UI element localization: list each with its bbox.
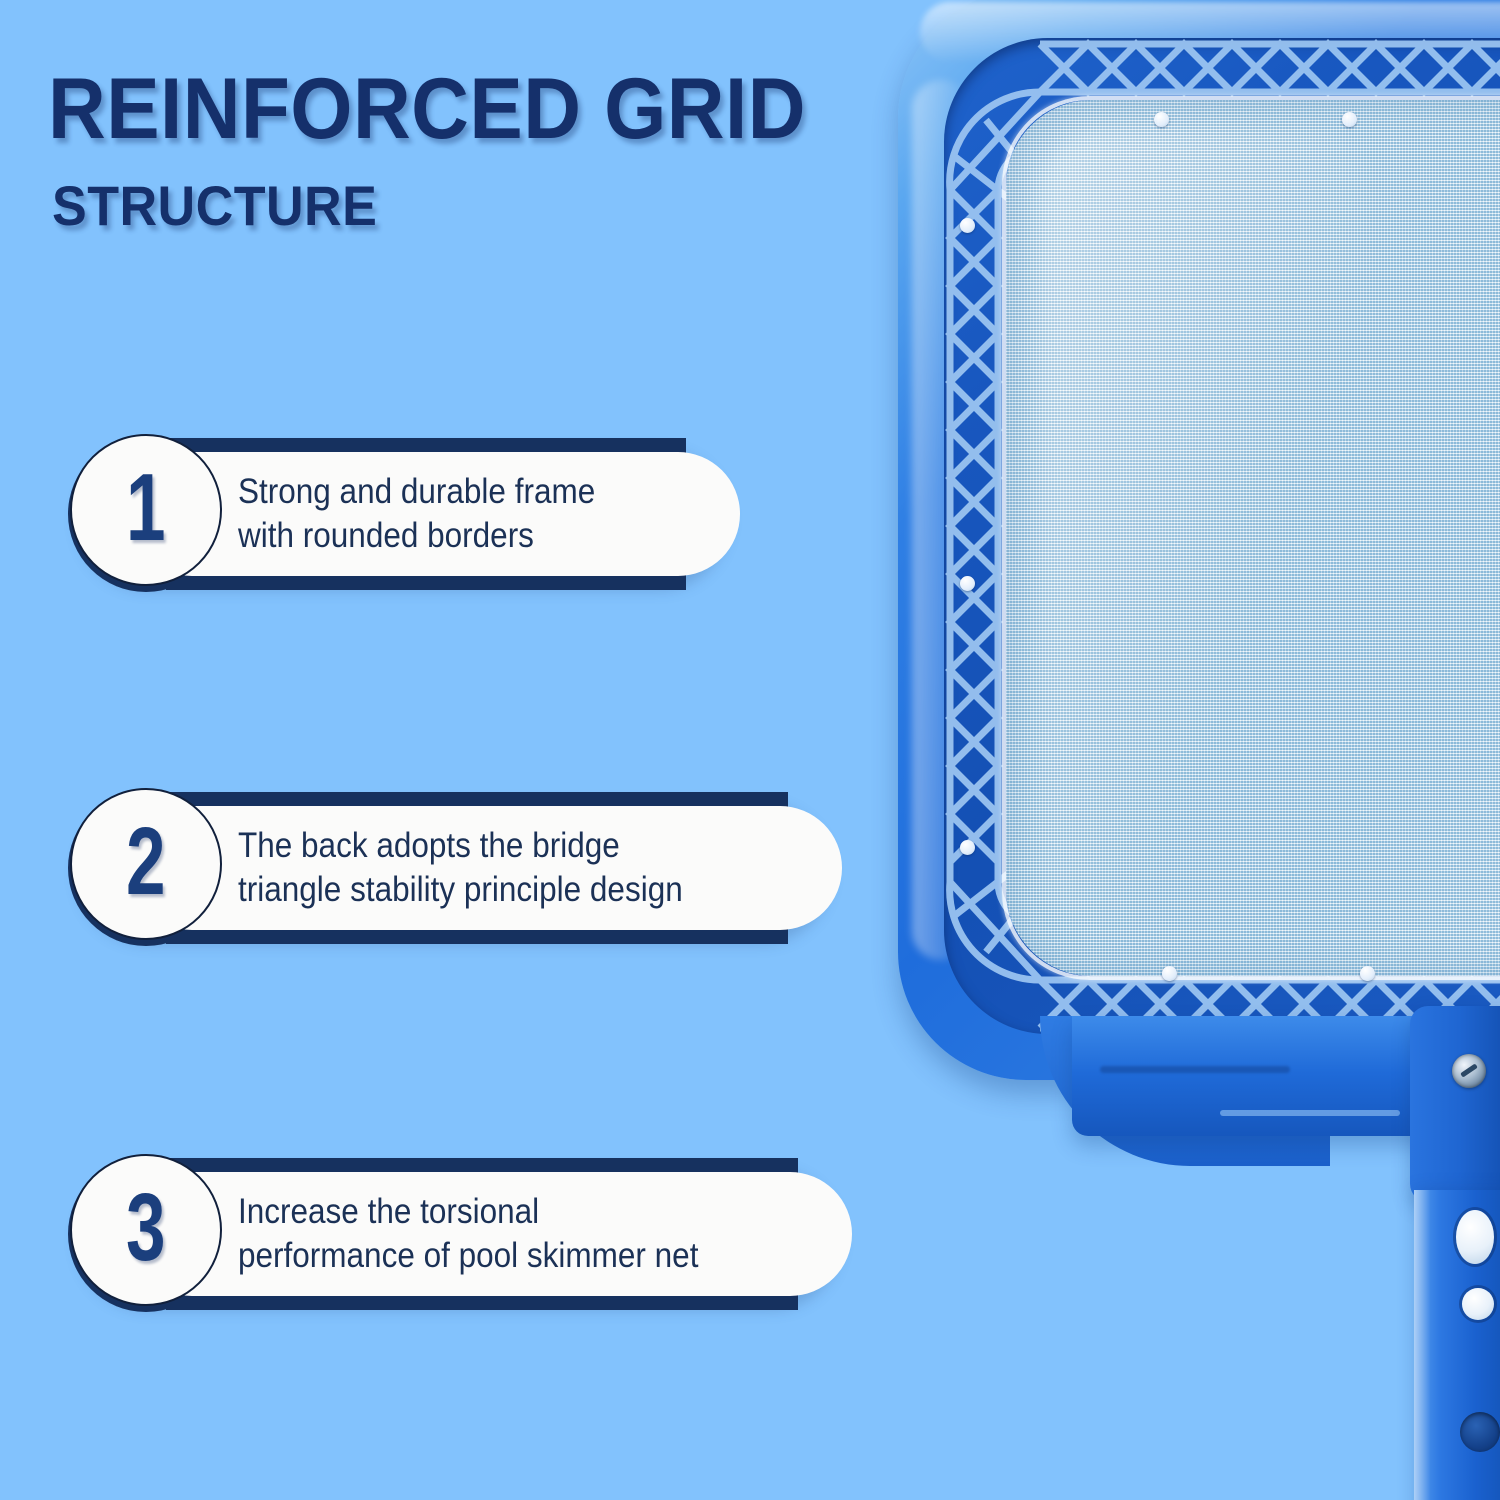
- pole-highlight-edge: [1414, 1190, 1430, 1500]
- truss-pin: [1154, 112, 1169, 127]
- product-image-pool-skimmer-net: [890, 0, 1500, 1500]
- truss-pin: [1342, 112, 1357, 127]
- callout-text: Strong and durable frame with rounded bo…: [238, 470, 635, 558]
- pole-adjust-hole: [1456, 1210, 1494, 1264]
- truss-pin: [960, 576, 975, 591]
- truss-pin: [960, 840, 975, 855]
- screw-icon: [1452, 1054, 1486, 1088]
- page-title: REINFORCED GRID STRUCTURE: [48, 62, 948, 238]
- callout-text-line-2: triangle stability principle design: [238, 868, 683, 912]
- callout-text-line-2: performance of pool skimmer net: [238, 1234, 698, 1278]
- headline-line-2: STRUCTURE: [52, 174, 885, 238]
- callout-number: 2: [126, 814, 166, 910]
- callout-number-badge: 1: [70, 434, 222, 586]
- callout-text-line-2: with rounded borders: [238, 514, 595, 558]
- infographic-canvas: REINFORCED GRID STRUCTURE 1 Strong and d…: [0, 0, 1500, 1500]
- net-highlight: [1040, 130, 1370, 930]
- callout-number-badge: 3: [70, 1154, 222, 1306]
- callout-text-line-1: Increase the torsional: [238, 1190, 698, 1234]
- callout-text: The back adopts the bridge triangle stab…: [238, 824, 732, 912]
- callout-number: 3: [126, 1180, 166, 1276]
- truss-pin: [1162, 966, 1177, 981]
- headline-line-1: REINFORCED GRID: [48, 62, 885, 156]
- callout-number: 1: [126, 460, 166, 556]
- pole-adjust-hole: [1460, 1412, 1500, 1452]
- truss-pin: [960, 218, 975, 233]
- callout-text-line-1: The back adopts the bridge: [238, 824, 683, 868]
- callout-number-badge: 2: [70, 788, 222, 940]
- callout-text: Increase the torsional performance of po…: [238, 1190, 750, 1278]
- bracket-rib: [1220, 1110, 1400, 1116]
- pole-adjust-hole: [1462, 1288, 1494, 1320]
- pole-collar: [1410, 1006, 1500, 1202]
- callout-text-line-1: Strong and durable frame: [238, 470, 595, 514]
- truss-pin: [1360, 966, 1375, 981]
- bracket-embossed-text: [1100, 1066, 1290, 1073]
